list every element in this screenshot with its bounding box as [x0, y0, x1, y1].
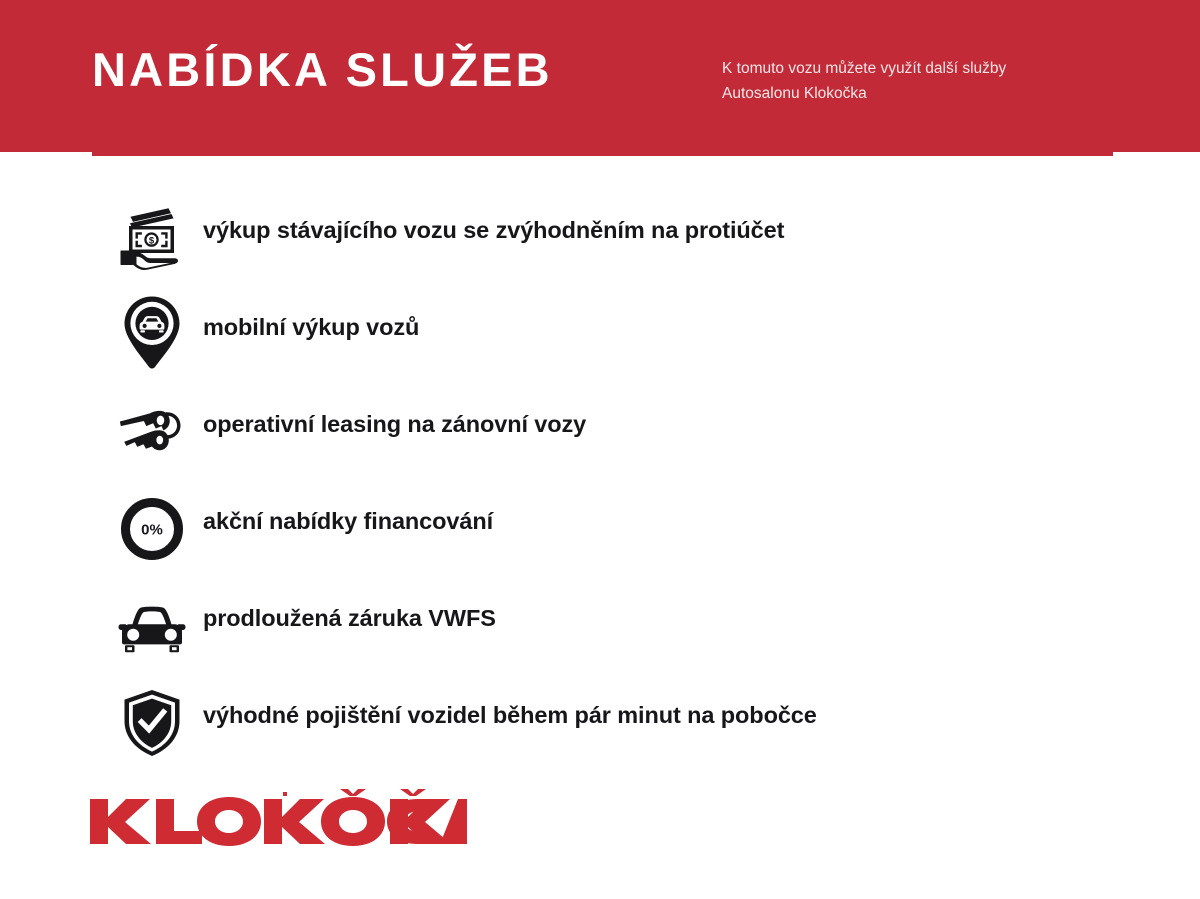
page-title: NABÍDKA SLUŽEB [92, 46, 553, 93]
services-list: $ výkup stávajícího vozu se zvýhodněním … [0, 196, 1200, 778]
car-keys-icon [118, 398, 186, 470]
header-subtitle: K tomuto vozu můžete využít další služby… [722, 56, 1142, 106]
klokocka-logo: KLOKOČKA [88, 789, 468, 851]
service-label: mobilní výkup vozů [203, 314, 419, 341]
list-item: $ výkup stávajícího vozu se zvýhodněním … [0, 196, 1200, 293]
zero-percent-label: 0% [141, 522, 163, 539]
svg-text:$: $ [149, 235, 155, 246]
list-item: prodloužená záruka VWFS [0, 584, 1200, 681]
shield-check-icon [118, 687, 186, 759]
header-subtitle-line-2: Autosalonu Klokočka [722, 81, 1142, 106]
money-in-hand-icon: $ [118, 202, 186, 274]
list-item: mobilní výkup vozů [0, 293, 1200, 390]
service-label: prodloužená záruka VWFS [203, 605, 496, 632]
list-item: výhodné pojištění vozidel během pár minu… [0, 681, 1200, 778]
service-label: akční nabídky financování [203, 508, 493, 535]
service-label: výhodné pojištění vozidel během pár minu… [203, 702, 817, 729]
list-item: 0% akční nabídky financování [0, 487, 1200, 584]
car-front-icon [118, 594, 186, 666]
map-pin-car-icon [118, 297, 186, 369]
zero-percent-ring-icon: 0% [118, 493, 186, 565]
service-label: výkup stávajícího vozu se zvýhodněním na… [203, 217, 784, 244]
header-banner-lip [92, 152, 1113, 156]
list-item: operativní leasing na zánovní vozy [0, 390, 1200, 487]
header-subtitle-line-1: K tomuto vozu můžete využít další služby [722, 56, 1142, 81]
service-label: operativní leasing na zánovní vozy [203, 411, 586, 438]
